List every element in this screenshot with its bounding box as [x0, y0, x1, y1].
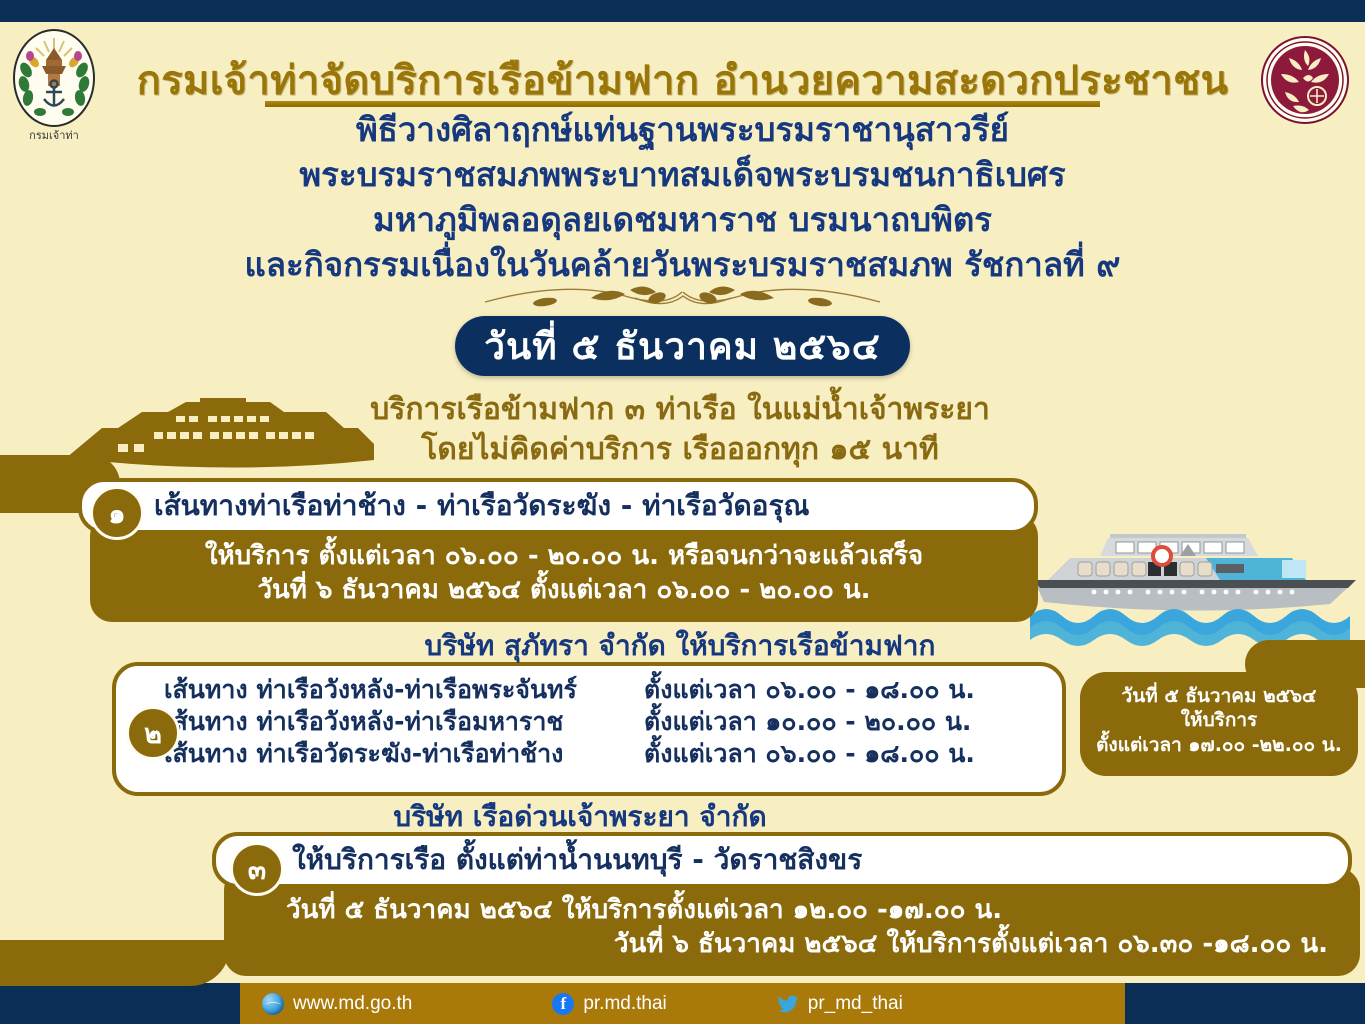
subtitle-line-3: มหาภูมิพลอดุลยเดชมหาราช บรมนาถบพิตร	[95, 198, 1270, 243]
section-2-routes-box: เส้นทาง ท่าเรือวังหลัง-ท่าเรือพระจันทร์ …	[112, 662, 1066, 796]
section-3-number-badge: ๓	[230, 842, 284, 896]
footer-website-label: www.md.go.th	[293, 993, 412, 1015]
route-row: เส้นทาง ท่าเรือวังหลัง-ท่าเรือมหาราช ตั้…	[164, 706, 1044, 738]
route-row: เส้นทาง ท่าเรือวัดระฆัง-ท่าเรือท่าช้าง ต…	[164, 738, 1044, 770]
sidenote-line-1: วันที่ ๕ ธันวาคม ๒๕๖๔	[1080, 684, 1358, 708]
poster-root: กรมเจ้าท่า กรมเจ้าท่าจัดบริการเรือข้ามฟา…	[0, 0, 1365, 1024]
intro-line-1: บริการเรือข้ามฟาก ๓ ท่าเรือ ในแม่น้ำเจ้า…	[200, 390, 1160, 430]
footer-facebook-label: pr.md.thai	[583, 993, 666, 1015]
route-time: ตั้งแต่เวลา ๑๐.๐๐ - ๒๐.๐๐ น.	[644, 706, 1034, 738]
footer-strip: www.md.go.th f pr.md.thai pr_md_thai	[240, 983, 1125, 1024]
route-time: ตั้งแต่เวลา ๐๖.๐๐ - ๑๘.๐๐ น.	[644, 674, 1034, 706]
footer-facebook[interactable]: f pr.md.thai	[552, 993, 666, 1015]
top-navy-bar	[0, 0, 1365, 22]
marine-department-seal-icon: กรมเจ้าท่า	[6, 26, 102, 144]
company-1-label: บริษัท สุภัทรา จำกัด ให้บริการเรือข้ามฟา…	[200, 624, 1160, 668]
footer-twitter[interactable]: pr_md_thai	[777, 993, 903, 1015]
ornamental-divider-icon	[425, 276, 940, 316]
footer-website[interactable]: www.md.go.th	[262, 993, 412, 1015]
section-1-heading-row: เส้นทางท่าเรือท่าช้าง - ท่าเรือวัดระฆัง …	[78, 478, 1038, 534]
route-name: เส้นทาง ท่าเรือวังหลัง-ท่าเรือพระจันทร์	[164, 674, 644, 706]
section-1-number-badge: ๑	[90, 486, 144, 540]
title-underline	[265, 101, 1100, 107]
section-3-detail-line-1: วันที่ ๕ ธันวาคม ๒๕๖๔ ให้บริการตั้งแต่เว…	[238, 894, 1346, 928]
section-3-detail-line-2: วันที่ ๖ ธันวาคม ๒๕๖๔ ให้บริการตั้งแต่เว…	[238, 928, 1346, 962]
royal-emblem-icon	[1259, 34, 1351, 126]
subtitle-block: พิธีวางศิลาฤกษ์แท่นฐานพระบรมราชานุสาวรีย…	[95, 108, 1270, 288]
intro-line-2: โดยไม่คิดค่าบริการ เรือออกทุก ๑๕ นาที	[200, 430, 1160, 470]
sidenote-line-2: ให้บริการ	[1080, 708, 1358, 732]
intro-text: บริการเรือข้ามฟาก ๓ ท่าเรือ ในแม่น้ำเจ้า…	[200, 390, 1160, 469]
twitter-icon	[777, 993, 799, 1015]
decorative-blob-left-lower	[0, 940, 230, 986]
section-1-detail-line-1: ให้บริการ ตั้งแต่เวลา ๐๖.๐๐ - ๒๐.๐๐ น. ห…	[100, 540, 1028, 574]
date-banner: วันที่ ๕ ธันวาคม ๒๕๖๔	[455, 316, 910, 376]
route-name: เส้นทาง ท่าเรือวัดระฆัง-ท่าเรือท่าช้าง	[164, 738, 644, 770]
route-row: เส้นทาง ท่าเรือวังหลัง-ท่าเรือพระจันทร์ …	[164, 674, 1044, 706]
sidenote-line-3: ตั้งแต่เวลา ๑๗.๐๐ -๒๒.๐๐ น.	[1080, 733, 1358, 757]
section-1-detail-line-2: วันที่ ๖ ธันวาคม ๒๕๖๔ ตั้งแต่เวลา ๐๖.๐๐ …	[100, 574, 1028, 608]
svg-text:กรมเจ้าท่า: กรมเจ้าท่า	[29, 129, 79, 142]
subtitle-line-1: พิธีวางศิลาฤกษ์แท่นฐานพระบรมราชานุสาวรีย…	[95, 108, 1270, 153]
route-time: ตั้งแต่เวลา ๐๖.๐๐ - ๑๘.๐๐ น.	[644, 738, 1034, 770]
company-2-label: บริษัท เรือด่วนเจ้าพระยา จำกัด	[200, 795, 960, 839]
section-2-route-list: เส้นทาง ท่าเรือวังหลัง-ท่าเรือพระจันทร์ …	[164, 674, 1044, 770]
footer-twitter-label: pr_md_thai	[808, 993, 903, 1015]
section-1-heading: เส้นทางท่าเรือท่าช้าง - ท่าเรือวัดระฆัง …	[154, 484, 809, 528]
section-2-number-badge: ๒	[126, 706, 180, 760]
section-3-heading-row: ให้บริการเรือ ตั้งแต่ท่าน้ำนนทบุรี - วัด…	[212, 832, 1352, 888]
facebook-icon: f	[552, 993, 574, 1015]
route-name: เส้นทาง ท่าเรือวังหลัง-ท่าเรือมหาราช	[164, 706, 644, 738]
sidenote-box: วันที่ ๕ ธันวาคม ๒๕๖๔ ให้บริการ ตั้งแต่เ…	[1080, 672, 1358, 776]
globe-icon	[262, 993, 284, 1015]
subtitle-line-2: พระบรมราชสมภพพระบาทสมเด็จพระบรมชนกาธิเบศ…	[95, 153, 1270, 198]
section-3-heading: ให้บริการเรือ ตั้งแต่ท่าน้ำนนทบุรี - วัด…	[292, 838, 862, 882]
